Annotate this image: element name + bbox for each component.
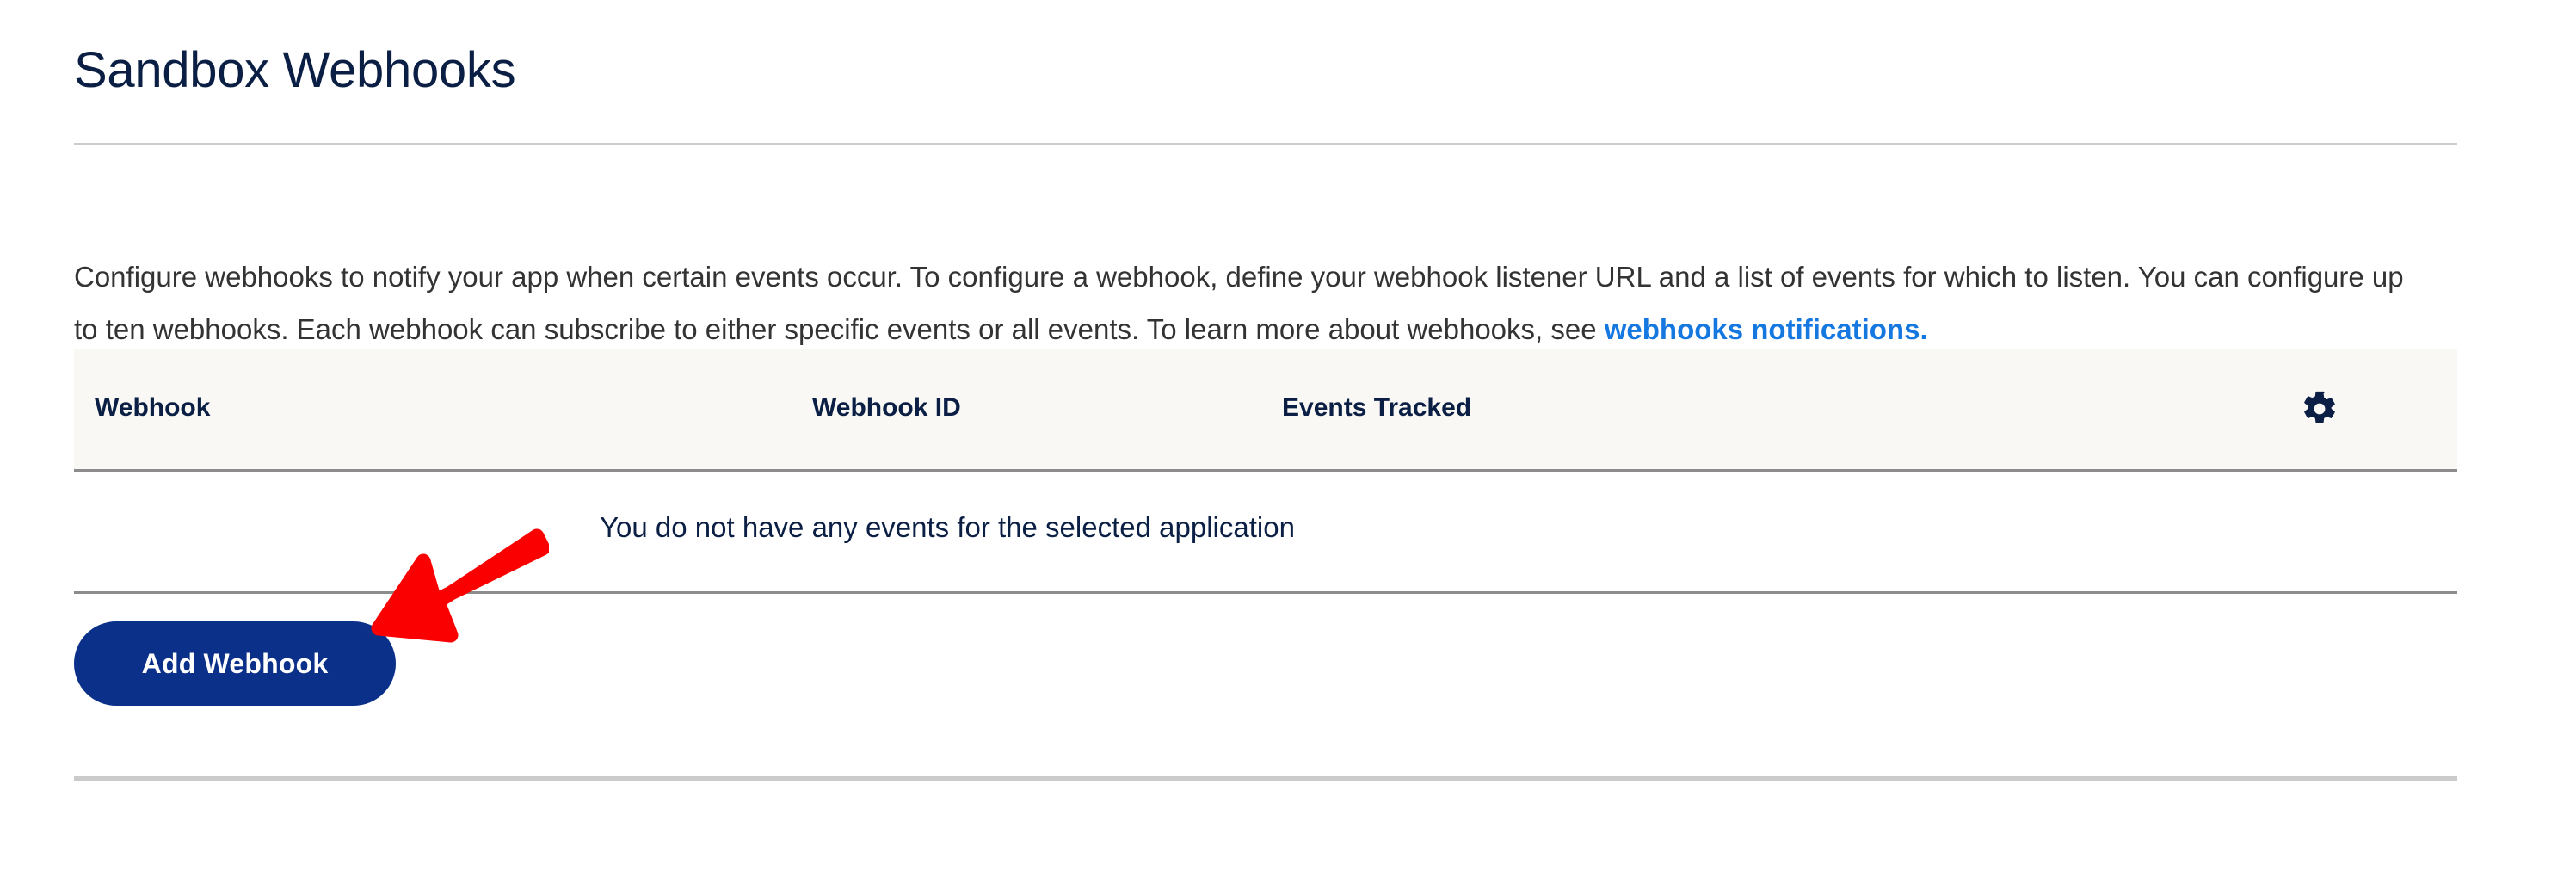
webhooks-notifications-link[interactable]: webhooks notifications. — [1605, 313, 1928, 345]
column-header-events-tracked: Events Tracked — [1282, 393, 1471, 423]
column-header-webhook-id: Webhook ID — [812, 393, 961, 423]
empty-state-message: You do not have any events for the selec… — [74, 511, 2457, 544]
page-title: Sandbox Webhooks — [74, 41, 515, 100]
title-divider — [74, 143, 2457, 145]
intro-text: Configure webhooks to notify your app wh… — [74, 261, 2404, 345]
table-header-row: Webhook Webhook ID Events Tracked — [74, 349, 2457, 472]
webhooks-page: Sandbox Webhooks Configure webhooks to n… — [0, 0, 2576, 871]
intro-paragraph: Configure webhooks to notify your app wh… — [74, 250, 2428, 355]
add-webhook-button[interactable]: Add Webhook — [74, 621, 396, 706]
bottom-divider — [74, 776, 2457, 781]
webhooks-table: Webhook Webhook ID Events Tracked You do… — [74, 349, 2457, 594]
table-empty-row: You do not have any events for the selec… — [74, 472, 2457, 594]
column-header-webhook: Webhook — [95, 393, 210, 423]
gear-icon — [2301, 390, 2339, 428]
table-settings-button[interactable] — [2301, 390, 2339, 428]
